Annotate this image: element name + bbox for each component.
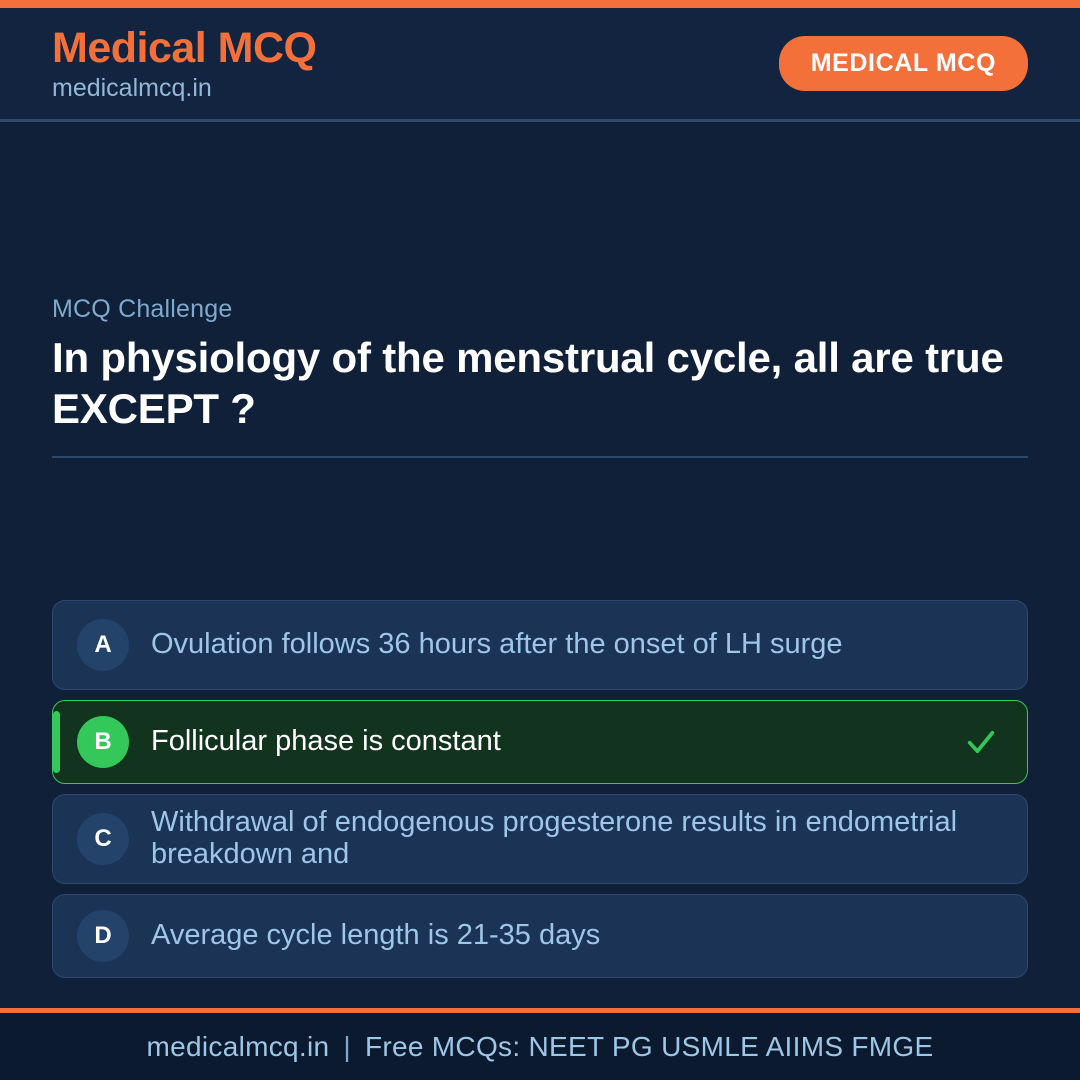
option-c[interactable]: C Withdrawal of endogenous progesterone …: [52, 794, 1028, 884]
brand: Medical MCQ medicalmcq.in: [52, 27, 317, 101]
mcq-card: Medical MCQ medicalmcq.in MEDICAL MCQ MC…: [0, 0, 1080, 1080]
question-kicker: MCQ Challenge: [52, 295, 1028, 324]
top-accent-bar: [0, 0, 1080, 8]
brand-subtitle: medicalmcq.in: [52, 76, 317, 101]
option-d-text: Average cycle length is 21-35 days: [151, 916, 961, 956]
option-b-letter: B: [77, 716, 129, 768]
check-icon: [961, 725, 1001, 759]
option-c-letter: C: [77, 813, 129, 865]
option-b[interactable]: B Follicular phase is constant: [52, 700, 1028, 784]
header: Medical MCQ medicalmcq.in MEDICAL MCQ: [0, 8, 1080, 122]
brand-title: Medical MCQ: [52, 27, 317, 70]
footer-text: medicalmcq.in|Free MCQs: NEET PG USMLE A…: [147, 1031, 934, 1063]
option-d[interactable]: D Average cycle length is 21-35 days: [52, 894, 1028, 978]
footer-separator: |: [329, 1031, 365, 1062]
option-c-text: Withdrawal of endogenous progesterone re…: [151, 803, 961, 875]
main-content: MCQ Challenge In physiology of the menst…: [0, 122, 1080, 1008]
question-divider: [52, 456, 1028, 458]
footer-site: medicalmcq.in: [147, 1031, 330, 1062]
footer: medicalmcq.in|Free MCQs: NEET PG USMLE A…: [0, 1008, 1080, 1080]
option-d-letter: D: [77, 910, 129, 962]
option-a-letter: A: [77, 619, 129, 671]
header-badge: MEDICAL MCQ: [779, 36, 1028, 91]
option-a-text: Ovulation follows 36 hours after the ons…: [151, 625, 961, 665]
footer-tagline: Free MCQs: NEET PG USMLE AIIMS FMGE: [365, 1031, 934, 1062]
question-block: MCQ Challenge In physiology of the menst…: [52, 295, 1028, 458]
option-b-text: Follicular phase is constant: [151, 722, 961, 762]
question-text: In physiology of the menstrual cycle, al…: [52, 332, 1028, 434]
option-b-accent-bar: [53, 711, 60, 773]
option-a[interactable]: A Ovulation follows 36 hours after the o…: [52, 600, 1028, 690]
options-list: A Ovulation follows 36 hours after the o…: [52, 600, 1028, 988]
